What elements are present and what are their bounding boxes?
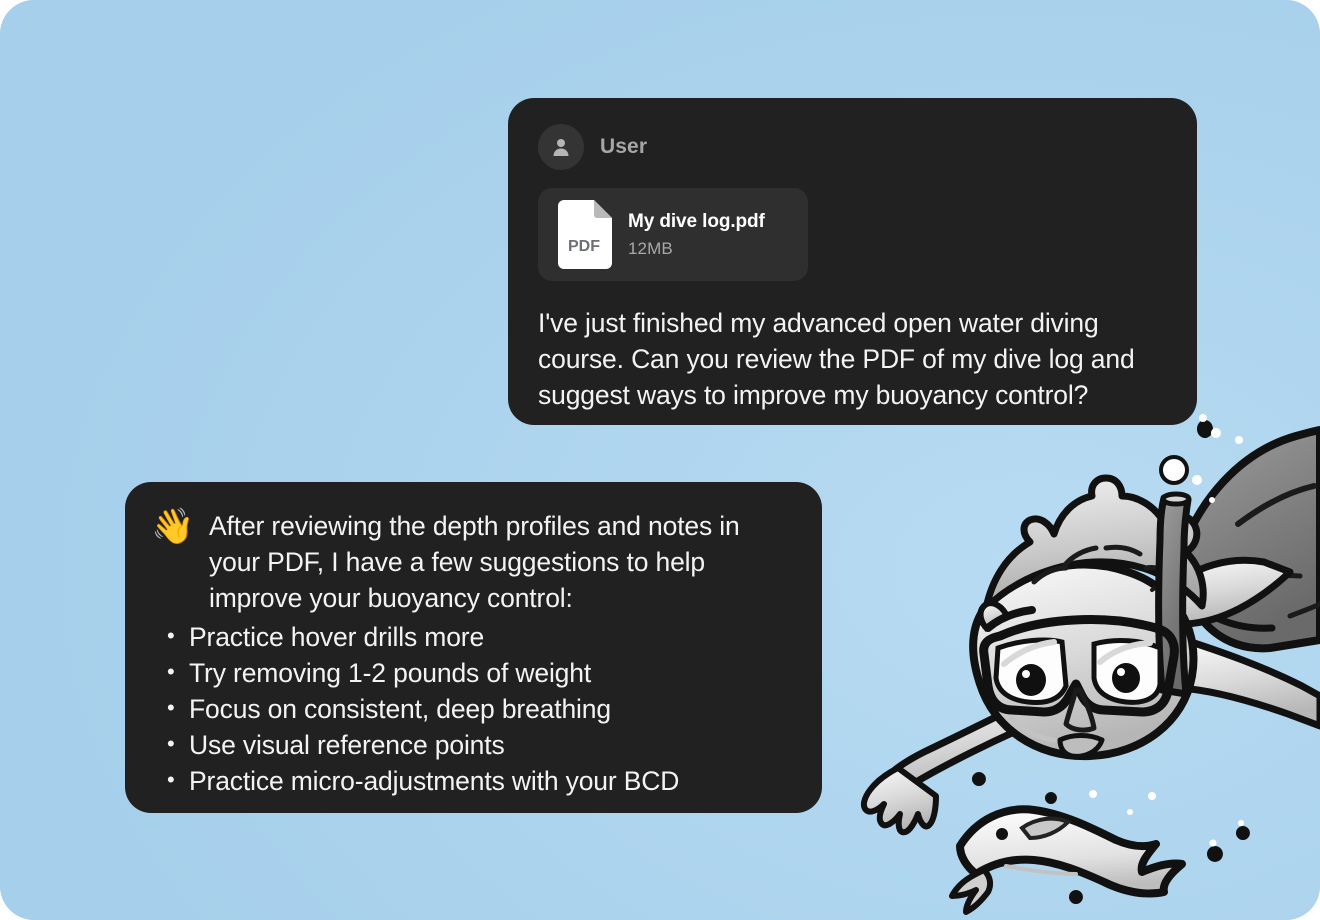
person-icon xyxy=(538,124,584,170)
assistant-message-intro-row: 👋 After reviewing the depth profiles and… xyxy=(151,508,794,616)
air-bubbles xyxy=(972,392,1250,904)
assistant-message-intro: After reviewing the depth profiles and n… xyxy=(209,508,794,616)
list-item: Use visual reference points xyxy=(189,727,794,763)
list-item: Practice hover drills more xyxy=(189,619,794,655)
screen: User PDF My dive log.pdf 12MB I've just … xyxy=(0,0,1320,920)
pdf-file-name: My dive log.pdf xyxy=(628,211,765,233)
list-item: Practice micro-adjustments with your BCD xyxy=(189,763,794,799)
svg-text:PDF: PDF xyxy=(568,238,600,255)
pdf-attachment-card[interactable]: PDF My dive log.pdf 12MB xyxy=(538,188,808,281)
user-message-header: User xyxy=(538,124,1167,170)
assistant-message-bubble: 👋 After reviewing the depth profiles and… xyxy=(125,482,822,813)
pdf-file-size: 12MB xyxy=(628,239,765,259)
pdf-attachment-meta: My dive log.pdf 12MB xyxy=(628,211,765,259)
waving-hand-emoji: 👋 xyxy=(151,508,195,545)
list-item: Focus on consistent, deep breathing xyxy=(189,691,794,727)
fish-illustration xyxy=(952,809,1182,912)
message-author-name: User xyxy=(600,135,647,159)
suggestion-list: Practice hover drills more Try removing … xyxy=(151,619,794,799)
pdf-file-icon: PDF xyxy=(558,200,612,269)
diver-figure xyxy=(864,430,1320,832)
user-message-bubble: User PDF My dive log.pdf 12MB I've just … xyxy=(508,98,1197,425)
list-item: Try removing 1-2 pounds of weight xyxy=(189,655,794,691)
user-message-text: I've just finished my advanced open wate… xyxy=(538,305,1167,413)
